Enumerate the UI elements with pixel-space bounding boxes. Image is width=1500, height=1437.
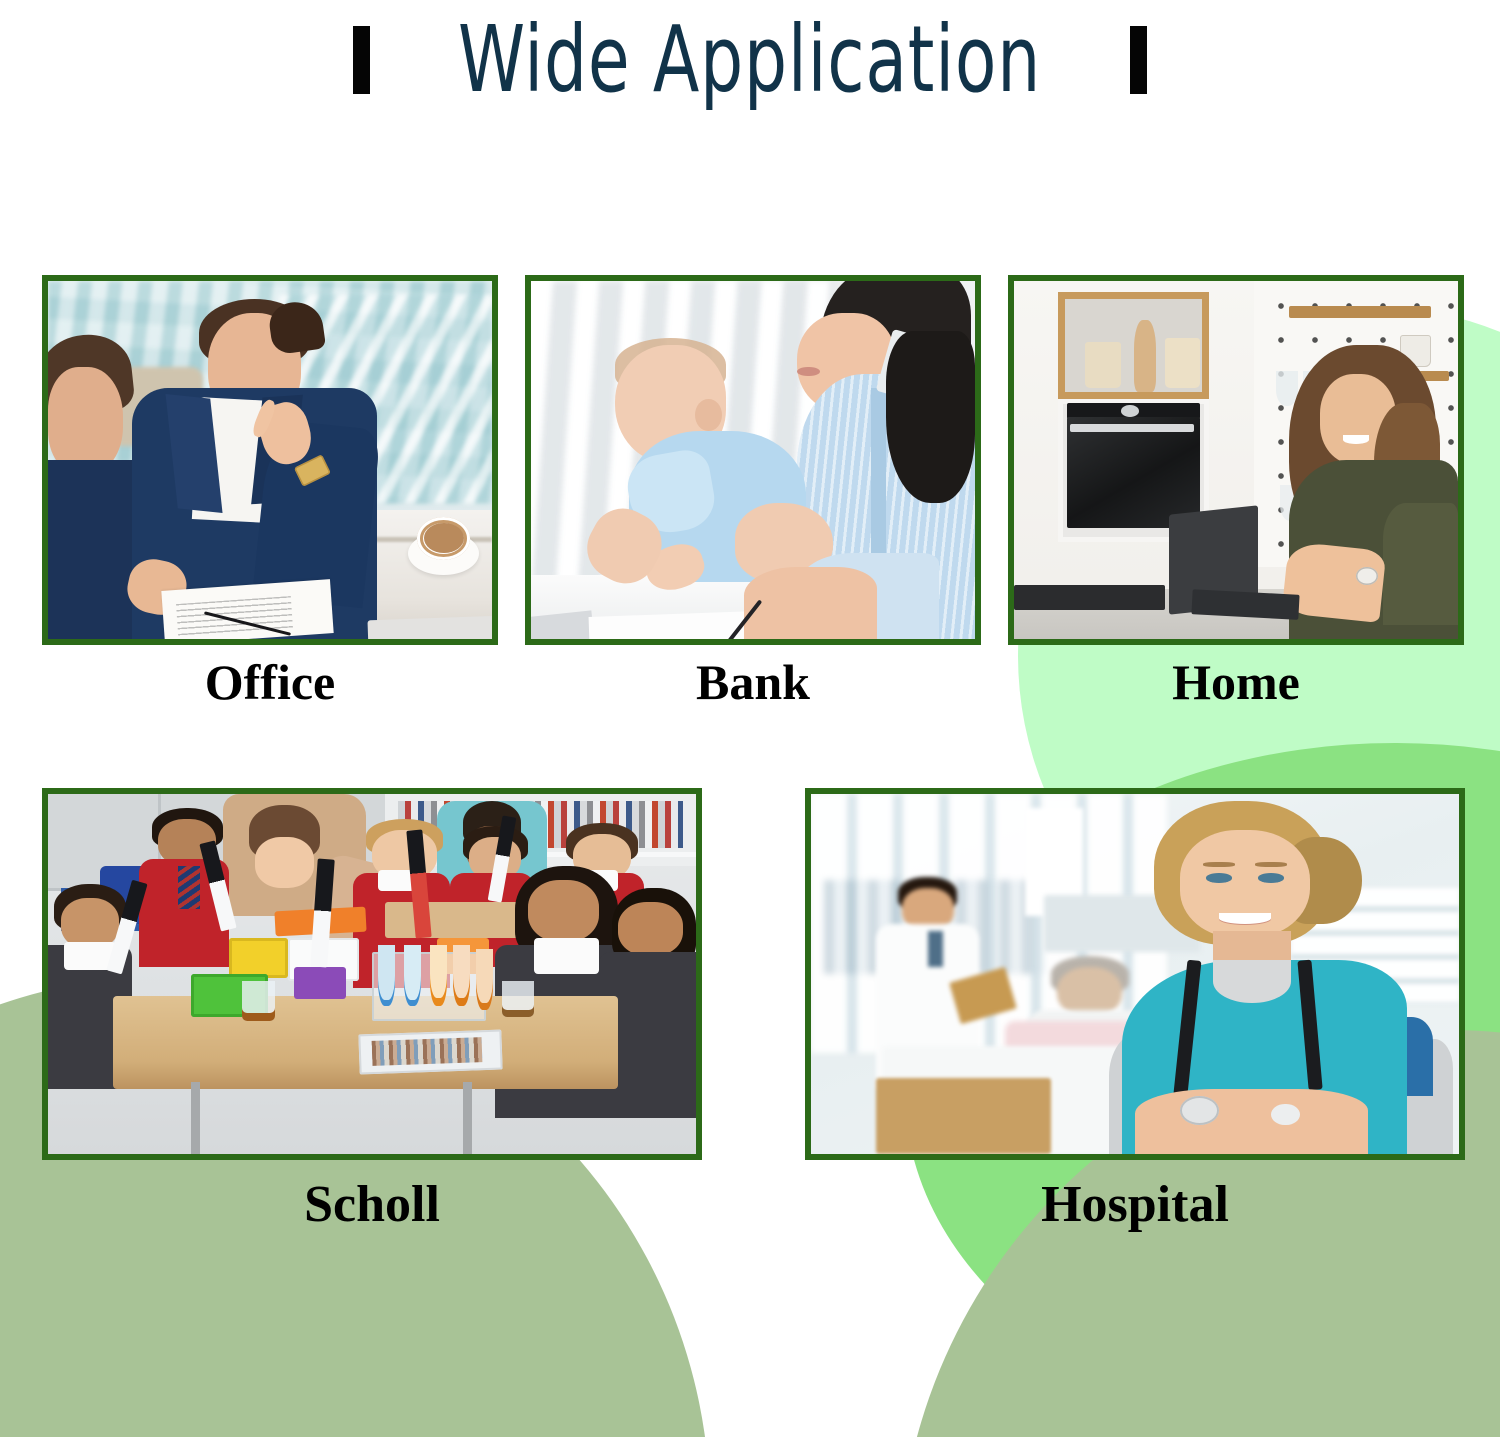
school-test-tube-2 [404, 945, 421, 1006]
school-test-tube-1 [378, 945, 395, 1006]
photo-frame-school [42, 788, 702, 1160]
office-man2-head [48, 367, 123, 474]
hospital-nurse-brow-right [1255, 862, 1287, 867]
home-basket-2 [1165, 338, 1201, 388]
bank-woman-lips [797, 367, 819, 376]
home-oven-handle [1070, 424, 1194, 432]
caption-bank: Bank [525, 653, 981, 711]
photo-home [1014, 281, 1458, 639]
home-cooktop [1014, 585, 1165, 610]
school-child-6-blouse [534, 938, 599, 974]
bank-woman-hair-strand [886, 331, 975, 503]
hospital-nurse-eye-left [1206, 873, 1232, 882]
photo-frame-office [42, 275, 498, 645]
photo-hospital [811, 794, 1459, 1154]
school-table-leg-2 [463, 1082, 472, 1154]
title-left-bar-icon [353, 26, 370, 94]
home-woman-smile [1343, 435, 1370, 444]
home-basket-1 [1085, 342, 1121, 389]
school-child-2-tie [178, 866, 201, 909]
photo-frame-hospital [805, 788, 1465, 1160]
hospital-bed-footboard [876, 1078, 1051, 1154]
caption-hospital: Hospital [805, 1175, 1465, 1234]
hospital-nurse-undershirt [1213, 960, 1291, 1003]
school-worksheet-print [372, 1037, 483, 1066]
photo-frame-bank [525, 275, 981, 645]
poster-canvas: Wide Application [0, 0, 1500, 1437]
home-oven-glass [1067, 417, 1200, 528]
hospital-nurse-brow-left [1203, 862, 1235, 867]
page-title-text: Wide Application [458, 14, 1041, 106]
school-test-tube-3 [430, 945, 447, 1006]
home-oven-knob [1121, 405, 1140, 417]
home-vase [1134, 320, 1156, 392]
school-table-leg-1 [191, 1082, 200, 1154]
hospital-nurse-arms [1135, 1089, 1368, 1154]
title-right-bar-icon [1130, 26, 1147, 94]
stethoscope-earpiece-icon [1271, 1104, 1300, 1126]
photo-office [48, 281, 492, 639]
school-yellow-rack [229, 938, 287, 978]
hospital-doctor-tie [928, 931, 944, 967]
application-card-bank[interactable] [525, 275, 981, 645]
home-shelf-1 [1289, 306, 1431, 317]
caption-home: Home [1008, 653, 1464, 711]
bank-laptop [531, 610, 594, 639]
application-card-home[interactable] [1008, 275, 1464, 645]
application-card-hospital[interactable] [805, 788, 1465, 1160]
school-test-tube-4 [453, 945, 470, 1006]
bank-baby-ear [695, 399, 722, 431]
school-beaker-2 [502, 981, 534, 1017]
school-purple-box [294, 967, 346, 999]
photo-frame-home [1008, 275, 1464, 645]
office-laptop [367, 615, 492, 639]
photo-bank [531, 281, 975, 639]
caption-school: Scholl [42, 1175, 702, 1234]
photo-school [48, 794, 696, 1154]
office-coffee [424, 523, 464, 553]
application-card-office[interactable] [42, 275, 498, 645]
application-card-school[interactable] [42, 788, 702, 1160]
school-child-6-head [528, 880, 599, 941]
bank-woman-hand [744, 567, 877, 639]
caption-office: Office [42, 653, 498, 711]
hospital-nurse-eye-right [1258, 873, 1284, 882]
school-test-tube-5 [476, 949, 493, 1010]
home-woman-sleeve [1383, 503, 1458, 625]
school-child-7-head [618, 902, 683, 956]
school-teacher-face [255, 837, 313, 887]
school-beaker-1 [242, 981, 274, 1021]
page-title: Wide Application [0, 0, 1500, 120]
